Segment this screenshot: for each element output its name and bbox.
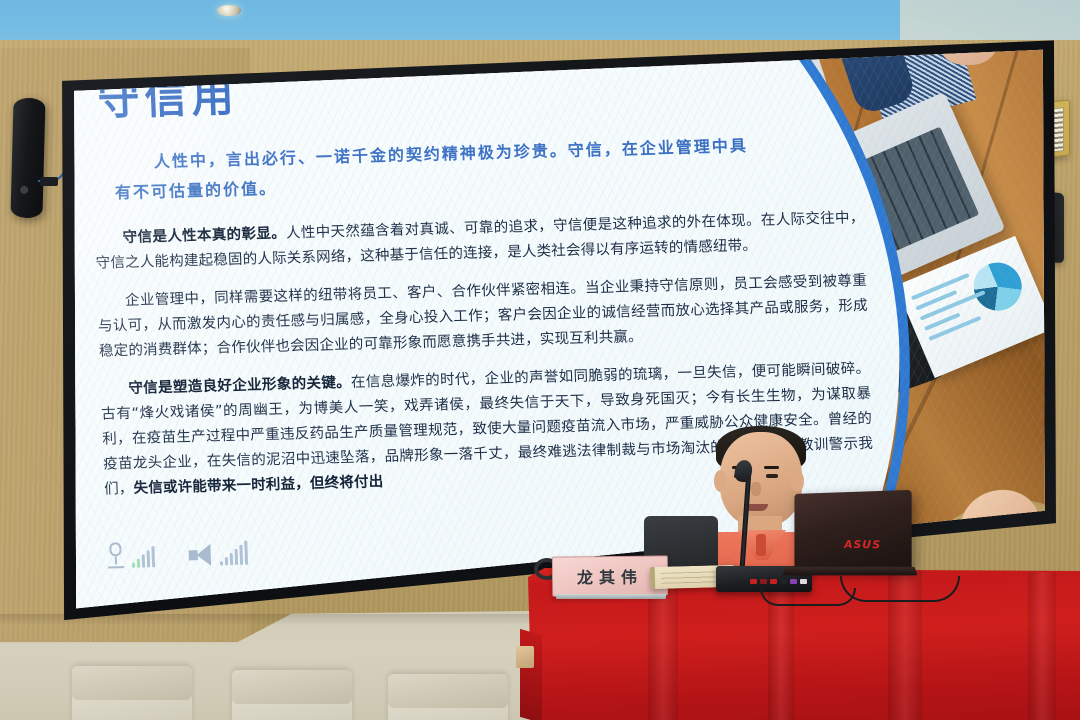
paragraph-1: 守信是人性本真的彰显。人性中天然蕴含着对真诚、可靠的追求，守信便是这种追求的外在… [94,206,866,277]
nameplate-text: 龙其伟 [577,564,643,589]
laptop-brand-logo: ASUS [844,538,881,552]
laptop-lid: ASUS [794,490,911,572]
desk-corner [520,629,542,720]
speaker-mount [40,177,58,186]
desk-tag [516,646,534,668]
nameplate-stand [556,594,666,599]
ceiling-spotlight-icon [217,5,241,16]
paragraph-3-tail: 失信或许能带来一时利益，但终将付出 [133,474,383,497]
laptop-base [783,567,918,576]
presenter-nose [751,482,761,496]
microphone-level-icon [104,542,127,569]
presenter-ear [714,470,727,492]
presenter-ear [791,470,804,492]
paragraph-1-lead: 守信是人性本真的彰显。 [122,226,286,246]
chair [388,674,508,720]
laptop[interactable]: ASUS [790,492,910,584]
chair-back [72,666,192,700]
cable [840,576,960,602]
speaker-level-bars [219,541,248,566]
paragraph-2-text: 企业管理中，同样需要这样的纽带将员工、客户、合作伙伴紧密相连。当企业秉持守信原则… [98,273,868,360]
chair [232,670,352,720]
slide-intro-text: 人性中，言出必行、一诺千金的契约精神极为珍贵。守信，在企业管理中具有不可估量的价… [113,131,755,208]
speaker-level-icon [188,544,215,567]
chair-back [232,670,352,704]
conference-room-scene: 守信用 人性中，言出必行、一诺千金的契约精神极为珍贵。守信，在企业管理中具有不可… [0,0,1080,720]
chair [72,666,192,720]
paragraph-2: 企业管理中，同样需要这样的纽带将员工、客户、合作伙伴紧密相连。当企业秉持守信原则… [97,269,870,365]
presenter-brow [764,466,779,469]
paragraph-3-lead: 守信是塑造良好企业形象的关键。 [128,375,351,397]
chair-back [388,674,508,708]
presenter-eye [766,474,778,478]
slide-footer-icons [104,539,248,569]
speaker-cable [38,142,66,182]
cable [760,588,856,606]
mic-level-bars [131,543,155,568]
